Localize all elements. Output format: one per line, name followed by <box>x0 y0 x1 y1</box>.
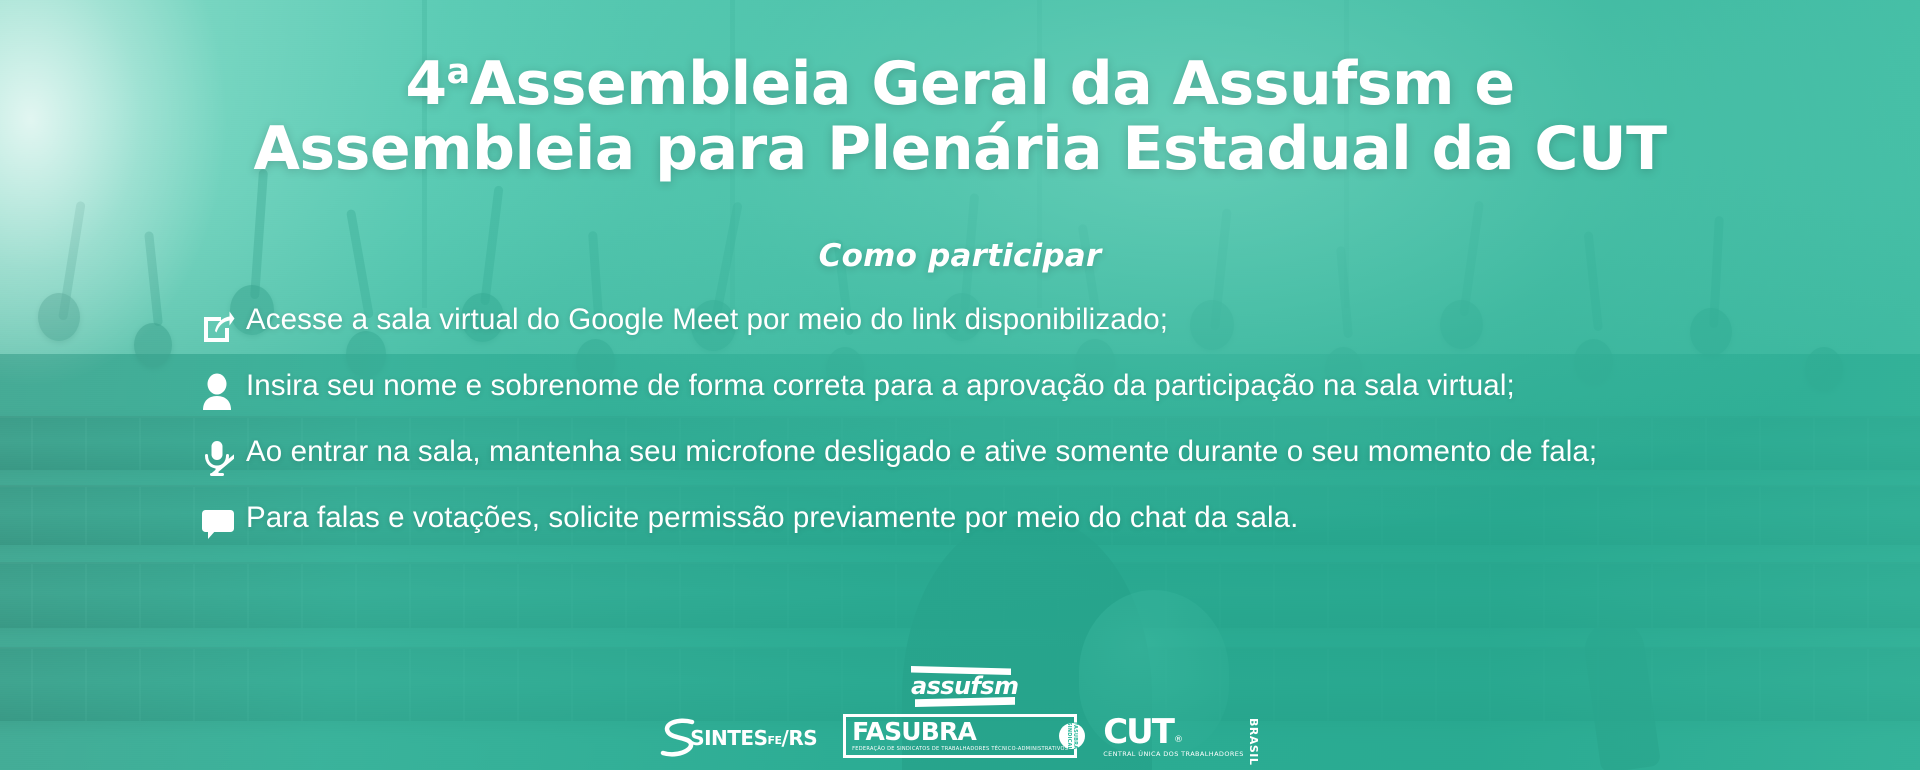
assufsm-logo-wordmark: assufsm <box>911 674 1018 698</box>
fasubra-wordmark: FASUBRA <box>852 719 976 744</box>
sintesfe-part2: /RS <box>782 726 818 750</box>
page-title: 4aAssembleia Geral da Assufsm e Assemble… <box>0 52 1920 182</box>
list-item: Para falas e votações, solicite permissã… <box>200 500 1790 546</box>
list-item: Ao entrar na sala, mantenha seu microfon… <box>200 434 1790 480</box>
page-title-line-1: 4aAssembleia Geral da Assufsm e <box>60 52 1860 117</box>
banner-content: 4aAssembleia Geral da Assufsm e Assemble… <box>0 0 1920 770</box>
fasubra-seal: FASUBRA SINDICAL <box>1059 723 1085 749</box>
assembly-announcement-banner: 4aAssembleia Geral da Assufsm e Assemble… <box>0 0 1920 770</box>
fasubra-logo: FASUBRA FEDERAÇÃO DE SINDICATOS DE TRABA… <box>843 714 1077 758</box>
sintesfe-part1: SINTES <box>690 726 767 750</box>
logo-row-primary: assufsm <box>901 662 1019 708</box>
cut-wordmark: CUT <box>1103 717 1173 748</box>
sintesfe-rs-logo: SINTESFE/RS <box>660 718 817 758</box>
sintesfe-part-small: FE <box>767 734 781 747</box>
sintesfe-rs-wordmark: SINTESFE/RS <box>690 726 817 750</box>
list-item: Acesse a sala virtual do Google Meet por… <box>200 302 1790 348</box>
fasubra-tagline: FEDERAÇÃO DE SINDICATOS DE TRABALHADORES… <box>852 746 1068 752</box>
list-item-label: Acesse a sala virtual do Google Meet por… <box>246 302 1168 338</box>
page-title-number: 4 <box>405 49 446 119</box>
list-item-label: Para falas e votações, solicite permissã… <box>246 500 1298 536</box>
logo-strip: assufsm SINTESFE/RS FASUBRA FEDERAÇÃO DE… <box>0 662 1920 758</box>
list-item-label: Ao entrar na sala, mantenha seu microfon… <box>246 434 1597 470</box>
list-item: Insira seu nome e sobrenome de forma cor… <box>200 368 1790 414</box>
instructions-list: Acesse a sala virtual do Google Meet por… <box>200 302 1790 566</box>
cut-tagline: CENTRAL ÚNICA DOS TRABALHADORES <box>1103 750 1244 758</box>
cut-brasil-vertical: BRASIL <box>1247 718 1260 765</box>
list-item-label: Insira seu nome e sobrenome de forma cor… <box>246 368 1515 404</box>
chat-bubble-icon <box>200 502 246 546</box>
cut-registered-mark: ® <box>1174 735 1183 745</box>
page-title-line-1-rest: Assembleia Geral da Assufsm e <box>470 49 1515 119</box>
page-title-line-2: Assembleia para Plenária Estadual da CUT <box>60 117 1860 182</box>
subtitle-como-participar: Como participar <box>0 238 1920 274</box>
cut-logo: CUT ® BRASIL CENTRAL ÚNICA DOS TRABALHAD… <box>1103 717 1260 758</box>
assufsm-logo: assufsm <box>901 662 1019 708</box>
share-external-link-icon <box>200 304 246 348</box>
person-icon <box>200 370 246 414</box>
page-title-ordinal: a <box>447 52 470 92</box>
microphone-muted-icon <box>200 436 246 480</box>
logo-row-partners: SINTESFE/RS FASUBRA FEDERAÇÃO DE SINDICA… <box>660 714 1260 758</box>
cut-logo-main: CUT ® <box>1103 717 1183 748</box>
